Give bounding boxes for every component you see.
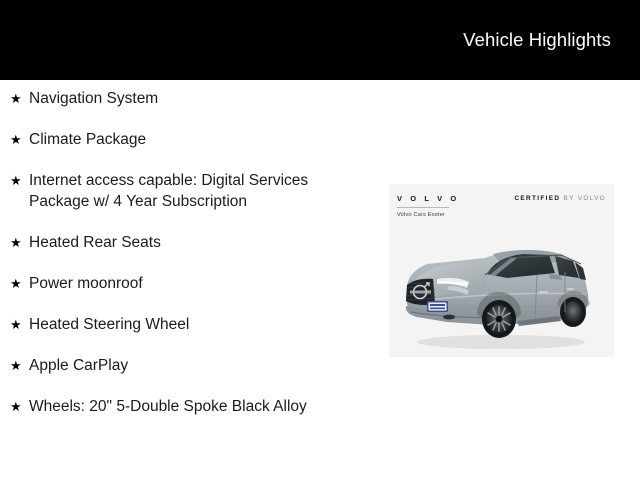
list-item: ★ Navigation System — [0, 88, 360, 109]
list-item: ★ Heated Steering Wheel — [0, 314, 360, 335]
star-bullet-icon: ★ — [10, 88, 29, 109]
star-bullet-icon: ★ — [10, 232, 29, 253]
list-item: ★ Internet access capable: Digital Servi… — [0, 170, 360, 212]
volvo-logo-wordmark: V O L V O — [397, 194, 459, 203]
list-item: ★ Wheels: 20" 5-Double Spoke Black Alloy — [0, 396, 360, 417]
star-bullet-icon: ★ — [10, 314, 29, 335]
star-bullet-icon: ★ — [10, 170, 29, 191]
vehicle-illustration — [389, 222, 614, 357]
highlight-label: Wheels: 20" 5-Double Spoke Black Alloy — [29, 396, 329, 417]
page-title: Vehicle Highlights — [463, 29, 611, 51]
dealer-name-label: Volvo Cars Exeter — [397, 212, 445, 218]
list-item: ★ Heated Rear Seats — [0, 232, 360, 253]
list-item: ★ Climate Package — [0, 129, 360, 150]
list-item: ★ Apple CarPlay — [0, 355, 360, 376]
highlight-label: Navigation System — [29, 88, 329, 109]
certified-badge: CERTIFIED BY VOLVO — [514, 195, 606, 202]
header-bar: Vehicle Highlights — [0, 0, 640, 80]
vehicle-photo — [389, 222, 614, 357]
highlight-label: Power moonroof — [29, 273, 329, 294]
star-bullet-icon: ★ — [10, 129, 29, 150]
list-item: ★ Power moonroof — [0, 273, 360, 294]
vehicle-highlights-list: ★ Navigation System ★ Climate Package ★ … — [0, 88, 360, 437]
highlight-label: Apple CarPlay — [29, 355, 329, 376]
vehicle-photo-card[interactable]: V O L V O Volvo Cars Exeter CERTIFIED BY… — [389, 184, 614, 357]
by-volvo-word: BY VOLVO — [563, 195, 606, 202]
highlight-label: Heated Steering Wheel — [29, 314, 329, 335]
star-bullet-icon: ★ — [10, 396, 29, 417]
highlight-label: Climate Package — [29, 129, 329, 150]
certified-word: CERTIFIED — [514, 195, 560, 202]
highlight-label: Internet access capable: Digital Service… — [29, 170, 329, 212]
brand-divider — [397, 207, 449, 208]
highlight-label: Heated Rear Seats — [29, 232, 329, 253]
star-bullet-icon: ★ — [10, 273, 29, 294]
star-bullet-icon: ★ — [10, 355, 29, 376]
